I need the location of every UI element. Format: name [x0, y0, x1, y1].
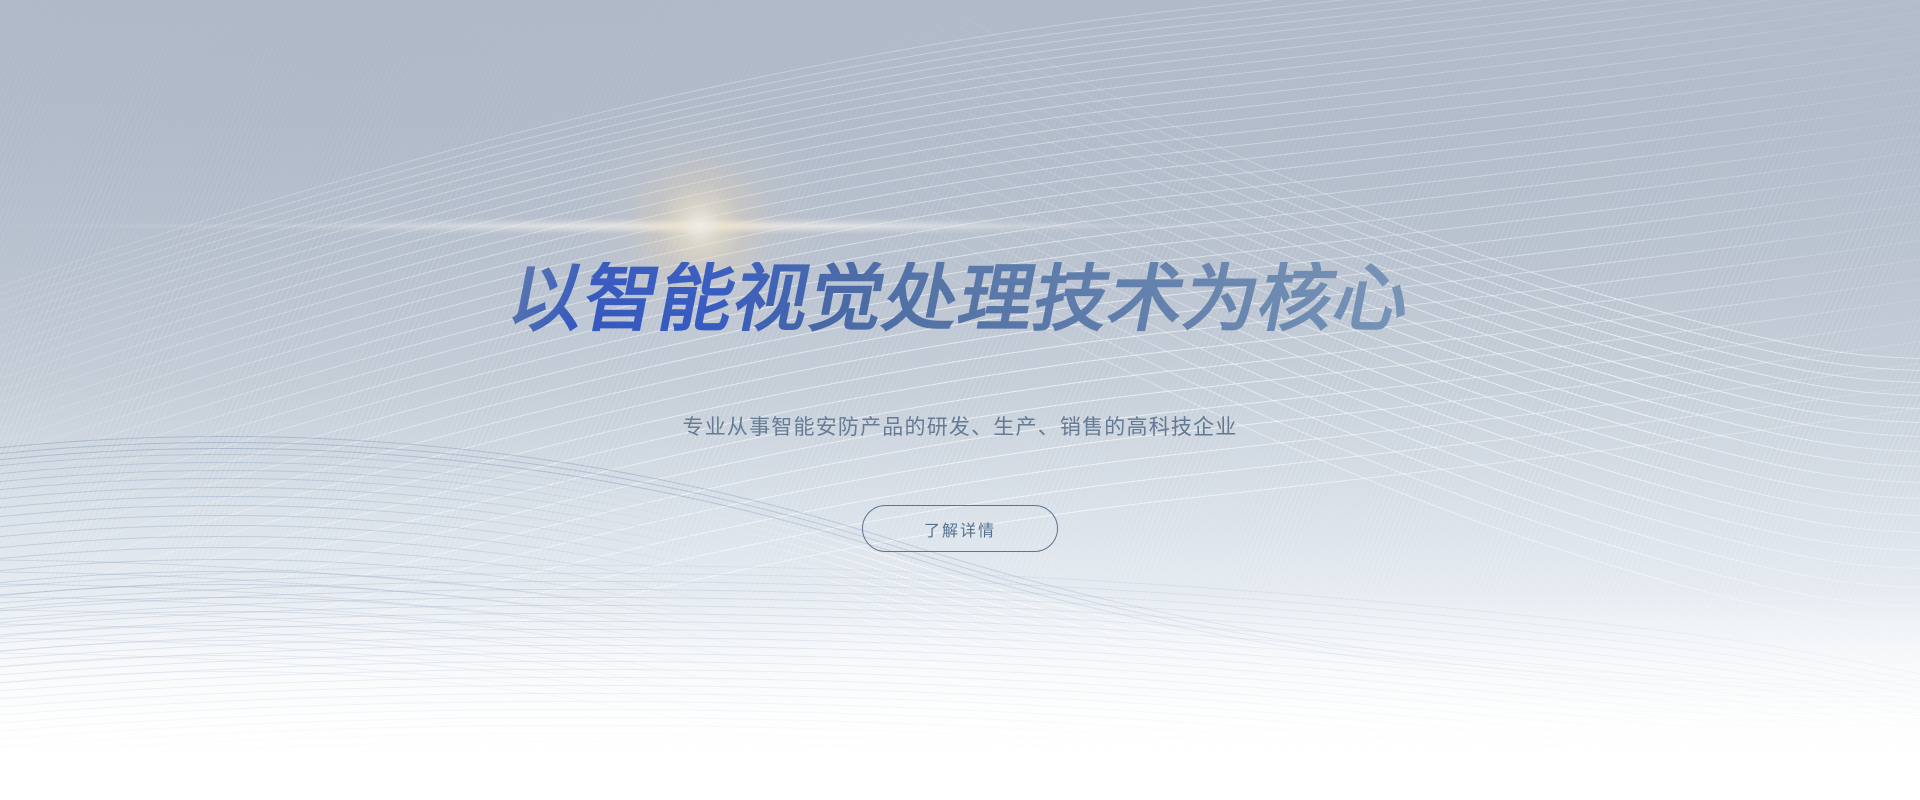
hero-subtitle: 专业从事智能安防产品的研发、生产、销售的高科技企业: [683, 411, 1238, 441]
wave-texture-lower-fan: [0, 0, 1920, 800]
diagonal-hatch-overlay-dark: [0, 0, 1920, 800]
bottom-fade-gradient: [0, 590, 1920, 800]
lens-flare-wide-streak: [0, 225, 1450, 228]
wave-texture-main: [0, 0, 1920, 800]
page-title: 以智能视觉处理技术为核心: [503, 262, 1417, 336]
wave-texture-upper: [0, 0, 1920, 800]
hero-banner: 以智能视觉处理技术为核心 专业从事智能安防产品的研发、生产、销售的高科技企业 了…: [0, 0, 1920, 800]
lens-flare-streak: [290, 221, 1110, 231]
wave-texture-right-ribbon: [0, 0, 1920, 800]
diagonal-hatch-overlay: [0, 0, 1920, 800]
hero-content: 以智能视觉处理技术为核心 专业从事智能安防产品的研发、生产、销售的高科技企业 了…: [0, 0, 1920, 800]
learn-more-button[interactable]: 了解详情: [862, 505, 1058, 552]
